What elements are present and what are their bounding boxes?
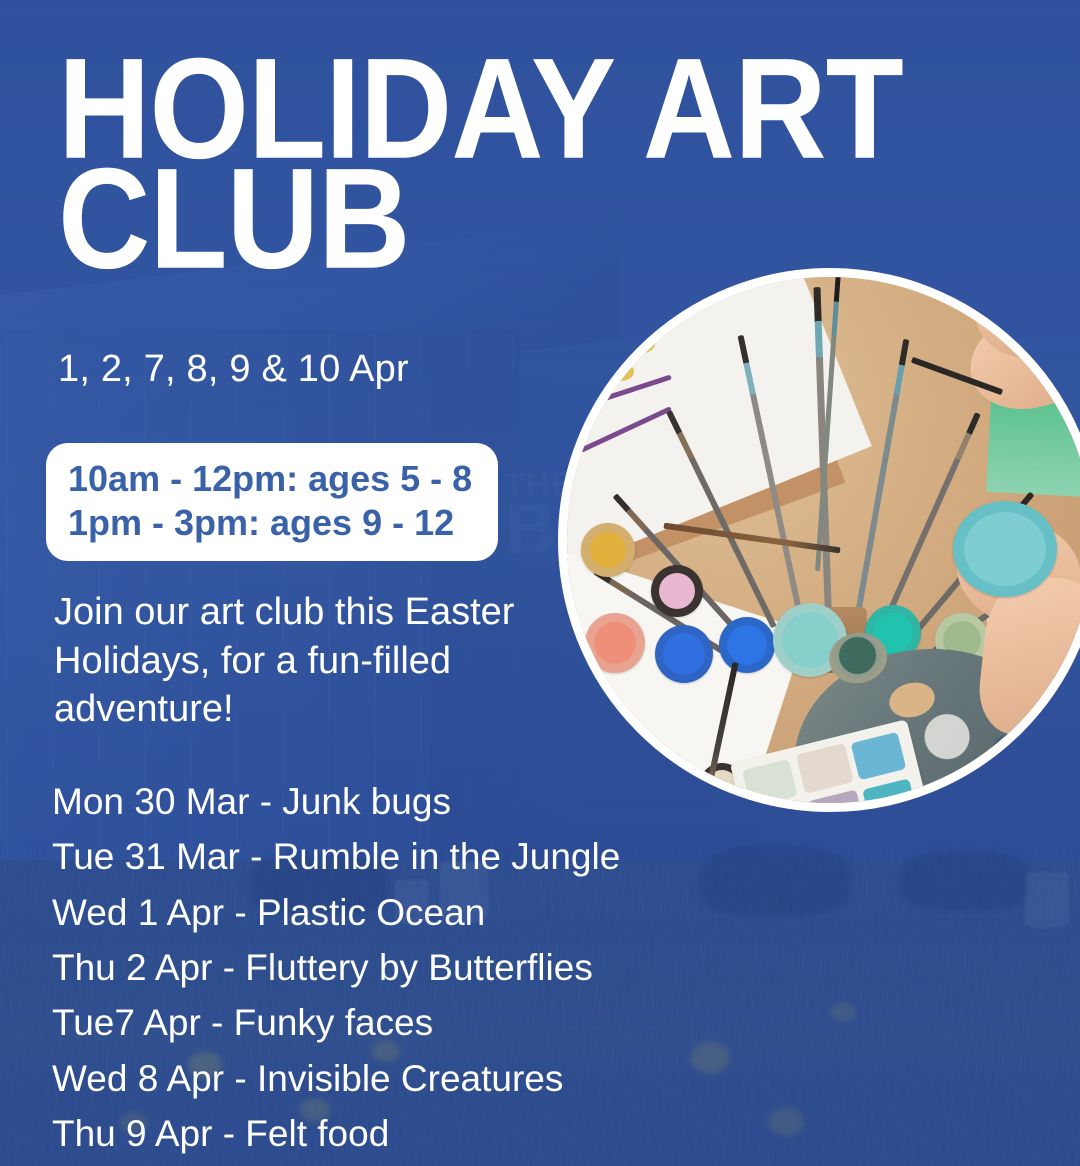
list-item: Thu 9 Apr - Felt food [52,1110,812,1157]
list-item: Wed 8 Apr - Invisible Creatures [52,1055,812,1102]
page-title: HOLIDAY ART CLUB [58,48,1018,268]
poster-root: THE BASE [0,0,1080,1166]
schedule-list: Mon 30 Mar - Junk bugs Tue 31 Mar - Rumb… [52,778,812,1166]
list-item: Wed 1 Apr - Plastic Ocean [52,889,812,936]
list-item: Thu 2 Apr - Fluttery by Butterflies [52,944,812,991]
intro-blurb: Join our art club this Easter Holidays, … [54,588,574,734]
list-item: Mon 30 Mar - Junk bugs [52,778,812,825]
event-dates: 1, 2, 7, 8, 9 & 10 Apr [58,348,409,391]
list-item: Tue 31 Mar - Rumble in the Jungle [52,833,812,880]
session-times-badge: 10am - 12pm: ages 5 - 8 1pm - 3pm: ages … [46,443,498,561]
list-item: Tue7 Apr - Funky faces [52,999,812,1046]
title-line-2: CLUB [58,158,1018,281]
session-time-afternoon: 1pm - 3pm: ages 9 - 12 [68,501,476,545]
poster-content: HOLIDAY ART CLUB 1, 2, 7, 8, 9 & 10 Apr … [0,0,1080,1166]
session-time-morning: 10am - 12pm: ages 5 - 8 [68,457,476,501]
